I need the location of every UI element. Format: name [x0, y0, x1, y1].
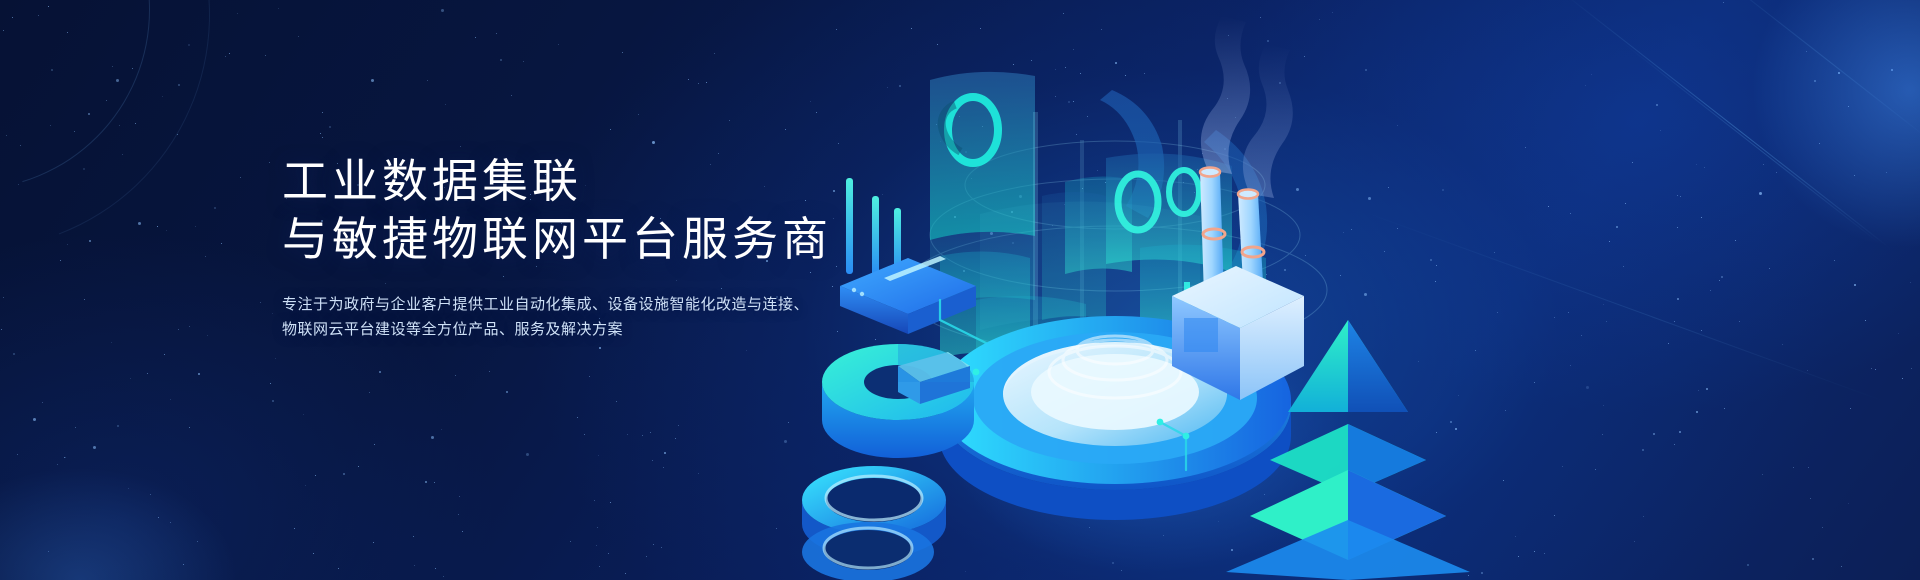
star — [269, 162, 270, 163]
star — [678, 425, 679, 426]
router-antennas — [846, 178, 901, 278]
star — [506, 391, 508, 393]
star — [178, 84, 180, 86]
star — [413, 536, 414, 537]
star — [57, 464, 58, 465]
star — [599, 566, 600, 567]
star — [84, 299, 85, 300]
star — [610, 502, 611, 503]
star — [627, 434, 628, 435]
star — [303, 414, 304, 415]
star — [369, 392, 370, 393]
star — [50, 125, 51, 126]
star — [570, 541, 571, 542]
star — [88, 113, 90, 115]
star — [270, 383, 271, 384]
star — [653, 544, 654, 545]
star — [305, 485, 306, 486]
star — [652, 141, 655, 144]
star — [729, 120, 730, 121]
star — [158, 517, 159, 518]
star — [374, 444, 375, 445]
star — [599, 347, 601, 349]
star — [93, 446, 96, 449]
star — [638, 114, 639, 115]
star — [584, 434, 585, 435]
star — [275, 358, 276, 359]
star — [89, 240, 91, 242]
star — [20, 145, 21, 146]
star — [427, 80, 428, 81]
bottom-platform-disc — [802, 522, 934, 580]
star — [6, 135, 7, 136]
star — [698, 473, 699, 474]
star — [435, 568, 436, 569]
star — [371, 79, 374, 82]
star — [65, 457, 66, 458]
star — [13, 353, 15, 355]
star — [198, 373, 200, 375]
star — [64, 457, 65, 458]
star — [135, 123, 136, 124]
star — [240, 177, 241, 178]
star — [272, 313, 273, 314]
star — [489, 371, 490, 372]
star — [322, 112, 323, 113]
star — [475, 37, 476, 38]
star — [294, 528, 295, 529]
star — [122, 154, 123, 155]
star — [589, 376, 590, 377]
star — [166, 230, 167, 231]
star — [425, 481, 427, 483]
star — [322, 137, 323, 138]
star — [358, 466, 359, 467]
star — [373, 542, 374, 543]
star — [130, 378, 131, 379]
star — [74, 131, 75, 132]
star — [207, 335, 208, 336]
star — [746, 350, 747, 351]
star — [3, 30, 4, 31]
star — [157, 226, 158, 227]
star — [278, 8, 279, 9]
star — [116, 79, 119, 82]
star — [315, 475, 316, 476]
star — [265, 55, 266, 56]
star — [119, 125, 120, 126]
star — [650, 432, 651, 433]
star — [221, 243, 222, 244]
star — [608, 553, 609, 554]
star — [698, 83, 699, 84]
star — [526, 453, 529, 456]
star — [338, 568, 339, 569]
star — [343, 473, 345, 475]
star — [622, 52, 623, 53]
star — [664, 452, 666, 454]
star — [642, 435, 643, 436]
star — [597, 527, 598, 528]
star — [414, 565, 415, 566]
star — [111, 342, 112, 343]
decorative-arc — [0, 0, 213, 253]
star — [434, 482, 435, 483]
star — [225, 56, 226, 57]
star — [51, 69, 53, 71]
star — [594, 500, 595, 501]
star — [313, 553, 314, 554]
star — [177, 134, 178, 135]
star — [688, 79, 689, 80]
star — [3, 297, 4, 298]
star — [500, 59, 502, 61]
corner-glow — [0, 430, 290, 580]
star — [75, 427, 76, 428]
star — [558, 44, 559, 45]
illustration-svg — [780, 0, 1920, 580]
star — [237, 13, 238, 14]
star — [83, 168, 85, 170]
star — [170, 399, 171, 400]
star — [445, 104, 446, 105]
star — [48, 6, 49, 7]
star — [117, 425, 119, 427]
star — [616, 401, 617, 402]
star — [455, 375, 456, 376]
star — [197, 541, 198, 542]
star — [577, 417, 578, 418]
star — [188, 44, 190, 46]
star — [67, 244, 68, 245]
star — [162, 96, 163, 97]
star — [229, 53, 230, 54]
star — [17, 454, 18, 455]
star — [132, 68, 133, 69]
star — [379, 371, 381, 373]
star — [441, 9, 444, 12]
star — [183, 564, 184, 565]
star — [48, 551, 49, 552]
star — [320, 133, 321, 134]
star — [431, 436, 434, 439]
smoke-plume — [1201, 16, 1250, 174]
smoke-plume — [1243, 44, 1293, 198]
star — [205, 256, 206, 257]
star — [776, 528, 777, 529]
star — [195, 226, 196, 227]
star — [272, 400, 274, 402]
star — [523, 61, 524, 62]
star — [189, 427, 190, 428]
star — [260, 302, 261, 303]
star — [147, 373, 148, 374]
star — [663, 467, 664, 468]
star — [329, 126, 331, 128]
star — [625, 573, 626, 574]
star — [441, 429, 442, 430]
star — [42, 402, 43, 403]
star — [106, 100, 107, 101]
star — [298, 36, 299, 37]
star — [675, 438, 676, 439]
star — [714, 53, 715, 54]
star — [150, 494, 151, 495]
star — [33, 418, 36, 421]
star — [458, 514, 459, 515]
star — [178, 329, 179, 330]
star — [60, 260, 61, 261]
star — [596, 545, 597, 546]
star — [1, 329, 2, 330]
star — [214, 207, 216, 209]
star — [652, 460, 653, 461]
star — [18, 184, 19, 185]
star — [459, 496, 460, 497]
star — [170, 522, 171, 523]
star — [598, 455, 599, 456]
star — [138, 222, 141, 225]
donut-chart-cylinder — [822, 344, 974, 458]
star — [462, 531, 463, 532]
star — [38, 15, 39, 16]
star — [67, 32, 68, 33]
star — [460, 146, 461, 147]
decorative-arc — [0, 0, 285, 325]
star — [706, 82, 707, 83]
star — [511, 95, 512, 96]
star — [646, 556, 647, 557]
star — [189, 326, 190, 327]
star — [128, 488, 129, 489]
star — [112, 66, 113, 67]
star — [12, 17, 13, 18]
star — [661, 547, 662, 548]
star — [496, 33, 497, 34]
hero-illustration — [780, 0, 1920, 580]
star — [610, 129, 611, 130]
star — [443, 576, 444, 577]
hero-banner: 工业数据集联 与敏捷物联网平台服务商 专注于为政府与企业客户提供工业自动化集成、… — [0, 0, 1920, 580]
star — [164, 354, 165, 355]
